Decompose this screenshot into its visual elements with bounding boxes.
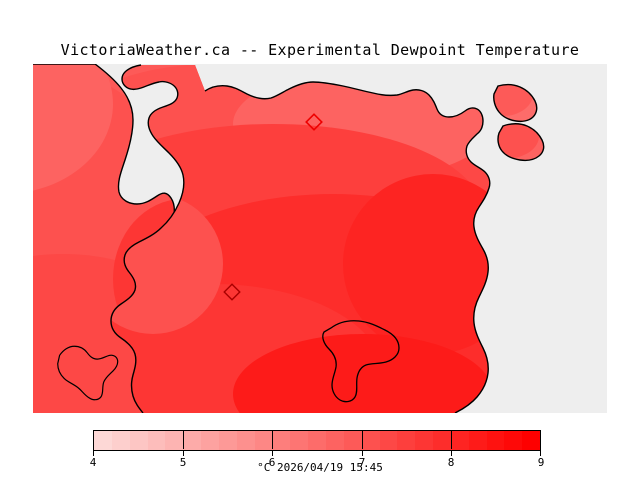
colorbar-swatch-10 [272,431,290,450]
colorbar-swatch-13 [326,431,344,450]
colorbar-division-8 [451,430,452,449]
colorbar-division-6 [272,430,273,449]
page-title: VictoriaWeather.ca -- Experimental Dewpo… [0,41,640,59]
colorbar-swatch-11 [290,431,308,450]
colorbar-swatch-8 [237,431,255,450]
colorbar-swatch-1 [112,431,130,450]
colorbar-swatch-23 [504,431,522,450]
colorbar-swatch-16 [380,431,398,450]
colorbar-swatch-22 [487,431,505,450]
colorbar-division-5 [183,430,184,449]
colorbar-swatch-7 [219,431,237,450]
colorbar-swatch-15 [362,431,380,450]
colorbar-division-7 [362,430,363,449]
colorbar[interactable]: 456789 [93,430,541,451]
colorbar-swatch-4 [165,431,183,450]
colorbar-swatch-0 [94,431,112,450]
colorbar-swatch-19 [433,431,451,450]
map-panel[interactable] [33,64,607,413]
colorbar-swatch-14 [344,431,362,450]
colorbar-swatch-12 [308,431,326,450]
colorbar-caption: °C 2026/04/19 15:45 [0,461,640,474]
dewpoint-contour-map[interactable] [33,64,607,413]
colorbar-swatch-24 [522,431,540,450]
colorbar-swatch-5 [183,431,201,450]
colorbar-swatch-6 [201,431,219,450]
colorbar-swatch-21 [469,431,487,450]
colorbar-gradient[interactable] [93,430,541,451]
colorbar-swatch-17 [397,431,415,450]
colorbar-swatch-9 [255,431,273,450]
colorbar-swatch-20 [451,431,469,450]
colorbar-swatch-18 [415,431,433,450]
colorbar-swatch-2 [130,431,148,450]
colorbar-swatch-3 [148,431,166,450]
